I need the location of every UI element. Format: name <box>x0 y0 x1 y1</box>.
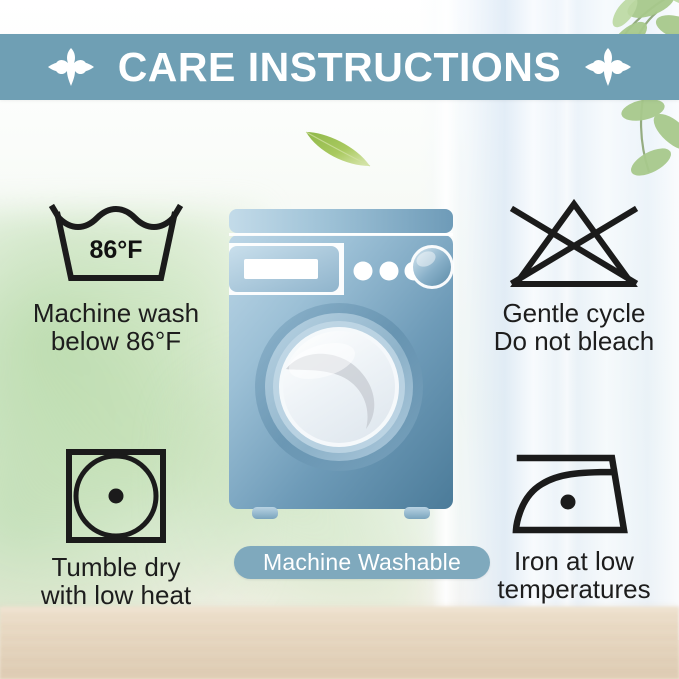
care-caption-iron-low: Iron at low temperatures <box>497 548 650 604</box>
care-item-iron-low: Iron at low temperatures <box>476 446 672 604</box>
machine-washable-badge-label: Machine Washable <box>263 549 461 576</box>
machine-washable-badge: Machine Washable <box>234 546 490 579</box>
iron-one-dot-icon <box>502 446 646 540</box>
washing-machine-illustration <box>226 209 456 532</box>
tumble-dry-low-icon <box>60 446 172 546</box>
care-item-machine-wash: 86°F Machine wash below 86°F <box>16 196 216 356</box>
machine-foot <box>404 507 430 519</box>
machine-foot <box>252 507 278 519</box>
machine-display <box>244 259 318 279</box>
page-title: CARE INSTRUCTIONS <box>118 47 562 88</box>
table-wood-grain <box>0 607 679 679</box>
page-header-banner: CARE INSTRUCTIONS <box>0 34 679 100</box>
leaf-icon <box>300 122 376 172</box>
care-instructions-infographic: CARE INSTRUCTIONS 86°F <box>0 0 679 679</box>
care-caption-do-not-bleach: Gentle cycle Do not bleach <box>494 300 654 356</box>
machine-button <box>380 262 399 281</box>
fleur-de-lis-icon <box>46 44 96 90</box>
fleur-de-lis-icon <box>583 44 633 90</box>
care-caption-machine-wash: Machine wash below 86°F <box>33 300 199 356</box>
care-caption-tumble-dry: Tumble dry with low heat <box>41 554 191 610</box>
machine-button <box>354 262 373 281</box>
care-item-tumble-dry: Tumble dry with low heat <box>16 446 216 610</box>
wash-temperature-value: 86°F <box>41 236 191 265</box>
care-item-do-not-bleach: Gentle cycle Do not bleach <box>476 196 672 356</box>
triangle-crossed-out-icon <box>500 196 648 292</box>
